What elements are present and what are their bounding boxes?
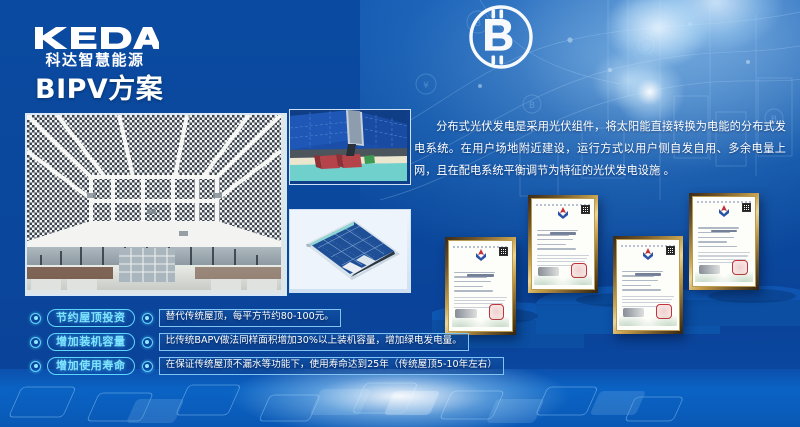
- certificate-card[interactable]: [445, 237, 516, 335]
- certificate-card[interactable]: [528, 195, 598, 293]
- ring-bullet-icon: [142, 337, 153, 348]
- benefit-row: 增加使用寿命 在保证传统屋顶不漏水等功能下，使用寿命达到25年（传统屋顶5-10…: [30, 358, 450, 374]
- ring-bullet-icon: [30, 361, 41, 372]
- svg-text:B: B: [529, 101, 535, 111]
- benefit-row: 增加装机容量 比传统BAPV做法同样面积增加30%以上装机容量，增加绿电发电量。: [30, 334, 450, 350]
- tech-image-panel-array: [289, 209, 411, 293]
- certificate-card[interactable]: [613, 236, 683, 334]
- description-text: 分布式光伏发电是采用光伏组件，将太阳能直接转换为电能的分布式发电系统。在用户场地…: [414, 116, 786, 182]
- ring-bullet-icon: [30, 313, 41, 324]
- page-title: BIPV方案: [35, 76, 163, 103]
- certificate-emblem-icon: [473, 249, 489, 261]
- certificate-emblem-icon: [555, 207, 571, 219]
- tech-image-mounting-detail: [289, 109, 411, 185]
- benefit-label: 增加装机容量: [47, 333, 135, 352]
- brand-cn-name: 科达智慧能源: [31, 53, 159, 68]
- bitcoin-icon: [466, 2, 536, 72]
- benefit-row: 节约屋顶投资 替代传统屋顶，每平方节约80-100元。: [30, 310, 450, 326]
- certificate-emblem-icon: [716, 205, 732, 217]
- svg-text:¥: ¥: [423, 81, 429, 91]
- brand-logo: 科达智慧能源: [31, 24, 159, 68]
- benefit-label: 节约屋顶投资: [47, 309, 135, 328]
- ring-bullet-icon: [142, 313, 153, 324]
- ring-bullet-icon: [30, 337, 41, 348]
- benefit-label: 增加使用寿命: [47, 357, 135, 376]
- benefits-list: 节约屋顶投资 替代传统屋顶，每平方节约80-100元。 增加装机容量 比传统BA…: [30, 310, 450, 382]
- main-photo-bipv-skylight: [25, 113, 287, 296]
- keda-wordmark-icon: [31, 24, 159, 51]
- benefit-detail: 比传统BAPV做法同样面积增加30%以上装机容量，增加绿电发电量。: [159, 333, 469, 350]
- certificate-emblem-icon: [640, 248, 656, 260]
- ring-bullet-icon: [142, 361, 153, 372]
- benefit-detail: 替代传统屋顶，每平方节约80-100元。: [159, 309, 341, 326]
- certificate-card[interactable]: [689, 193, 759, 290]
- benefit-detail: 在保证传统屋顶不漏水等功能下，使用寿命达到25年（传统屋顶5-10年左右）: [159, 357, 504, 374]
- poster-canvas: BB BB @¥: [0, 0, 800, 427]
